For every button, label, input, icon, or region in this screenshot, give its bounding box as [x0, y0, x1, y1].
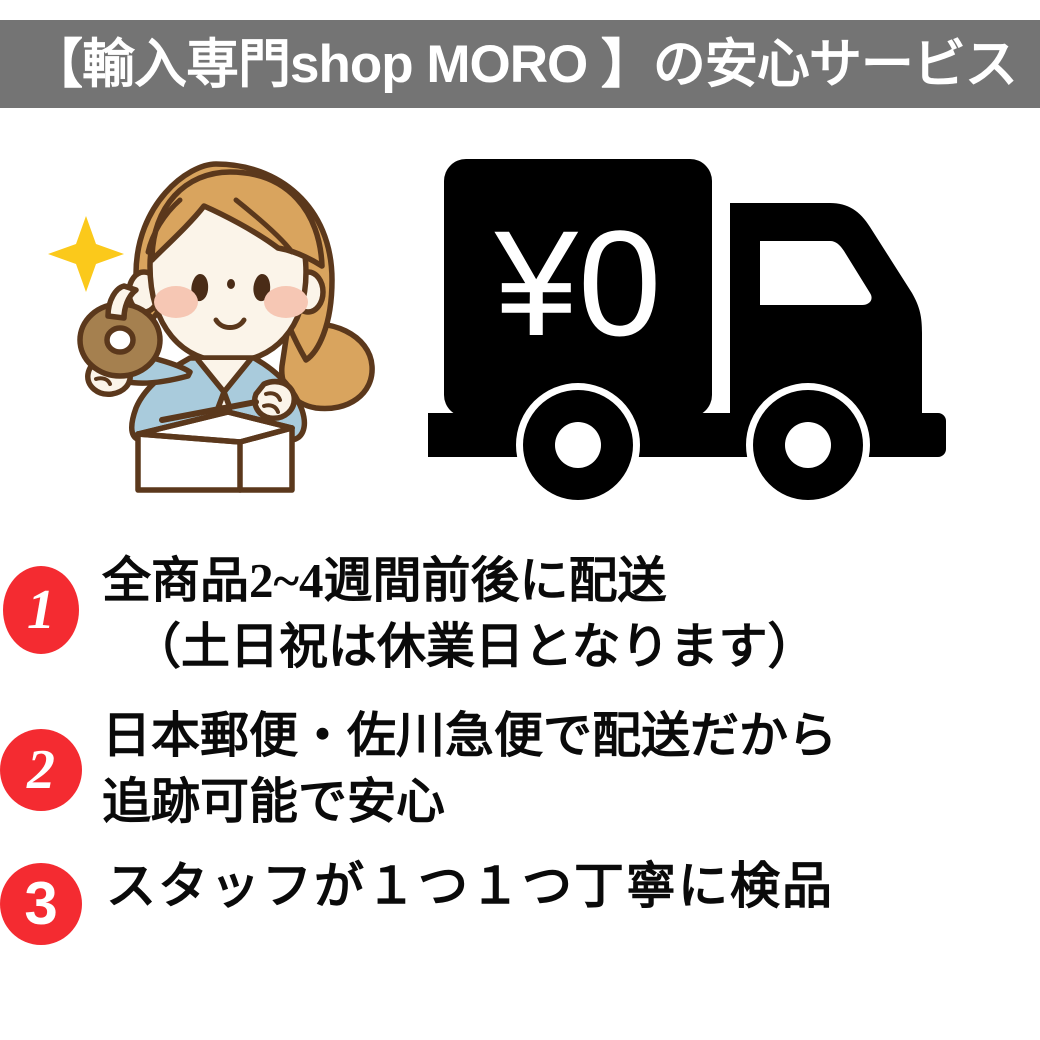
- service-number-badge-1: 1: [3, 566, 79, 654]
- service-list: 1 全商品2~4週間前後に配送 （土日祝は休業日となります） 2 日本郵便・佐川…: [0, 548, 1040, 959]
- service-item-3-line-1: スタッフが１つ１つ丁寧に検品: [106, 853, 1040, 920]
- service-item-3: 3 スタッフが１つ１つ丁寧に検品: [0, 853, 1040, 945]
- service-item-2-line-2: 追跡可能で安心: [102, 769, 1040, 835]
- badge-wrapper-3: 3: [0, 853, 82, 945]
- header-banner: 【輸入専門shop MORO 】の安心サービス: [0, 20, 1040, 108]
- service-item-1-line-2: （土日祝は休業日となります）: [102, 614, 1040, 680]
- badge-wrapper-1: 1: [0, 548, 82, 654]
- packing-staff-svg: [40, 140, 380, 520]
- blush-right: [264, 286, 308, 318]
- service-item-1-line-1: 全商品2~4週間前後に配送: [102, 548, 1040, 614]
- wheel-front-hub: [785, 422, 831, 468]
- service-item-1: 1 全商品2~4週間前後に配送 （土日祝は休業日となります）: [0, 548, 1040, 679]
- blush-left: [154, 286, 198, 318]
- badge-wrapper-2: 2: [0, 703, 82, 811]
- hand-right: [255, 382, 294, 419]
- service-item-1-text: 全商品2~4週間前後に配送 （土日祝は休業日となります）: [82, 548, 1040, 679]
- illustration-row: ¥0: [0, 115, 1040, 530]
- service-item-3-text: スタッフが１つ１つ丁寧に検品: [82, 853, 1040, 920]
- service-item-2: 2 日本郵便・佐川急便で配送だから 追跡可能で安心: [0, 703, 1040, 834]
- nose: [227, 279, 235, 289]
- packing-staff-illustration: [40, 140, 380, 520]
- truck-svg: ¥0: [420, 145, 1000, 515]
- wheel-rear-hub: [555, 422, 601, 468]
- free-shipping-truck-icon: ¥0: [420, 145, 1000, 515]
- sparkle-star-icon: [48, 216, 124, 292]
- service-number-badge-3: 3: [0, 863, 82, 945]
- service-item-2-line-1: 日本郵便・佐川急便で配送だから: [102, 703, 1040, 769]
- page-title: 【輸入専門shop MORO 】の安心サービス: [0, 38, 1017, 91]
- cargo-price-label: ¥0: [494, 199, 662, 367]
- service-number-badge-2: 2: [0, 729, 82, 811]
- service-item-2-text: 日本郵便・佐川急便で配送だから 追跡可能で安心: [82, 703, 1040, 834]
